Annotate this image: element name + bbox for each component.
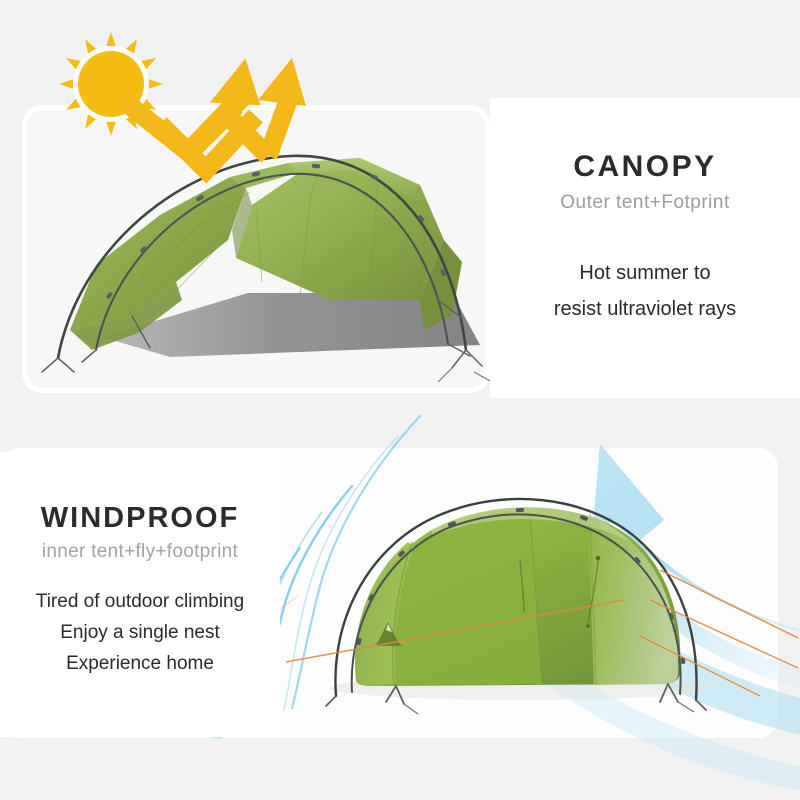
windproof-body-line-2: Enjoy a single nest xyxy=(36,618,244,649)
canopy-title: CANOPY xyxy=(573,150,716,184)
windproof-subtitle: inner tent+fly+footprint xyxy=(42,541,238,563)
windproof-body-line-1: Tired of outdoor climbing xyxy=(36,587,244,618)
canopy-subtitle: Outer tent+Fotprint xyxy=(560,192,730,214)
canopy-text-panel: CANOPY Outer tent+Fotprint Hot summer to… xyxy=(490,98,800,398)
windproof-body-line-3: Experience home xyxy=(36,649,244,680)
windproof-body: Tired of outdoor climbing Enjoy a single… xyxy=(36,587,244,679)
canopy-section: CANOPY Outer tent+Fotprint Hot summer to… xyxy=(0,0,800,400)
windproof-section: WINDPROOF inner tent+fly+footprint Tired… xyxy=(0,400,800,800)
windproof-title: WINDPROOF xyxy=(41,502,239,535)
canopy-body-line-2: resist ultraviolet rays xyxy=(554,294,736,324)
windproof-text-panel: WINDPROOF inner tent+fly+footprint Tired… xyxy=(0,452,280,737)
product-feature-image: CANOPY Outer tent+Fotprint Hot summer to… xyxy=(0,0,800,800)
uv-arrowhead-2 xyxy=(258,58,306,106)
canopy-body: Hot summer to resist ultraviolet rays xyxy=(554,252,736,324)
canopy-body-line-1: Hot summer to xyxy=(554,258,736,288)
